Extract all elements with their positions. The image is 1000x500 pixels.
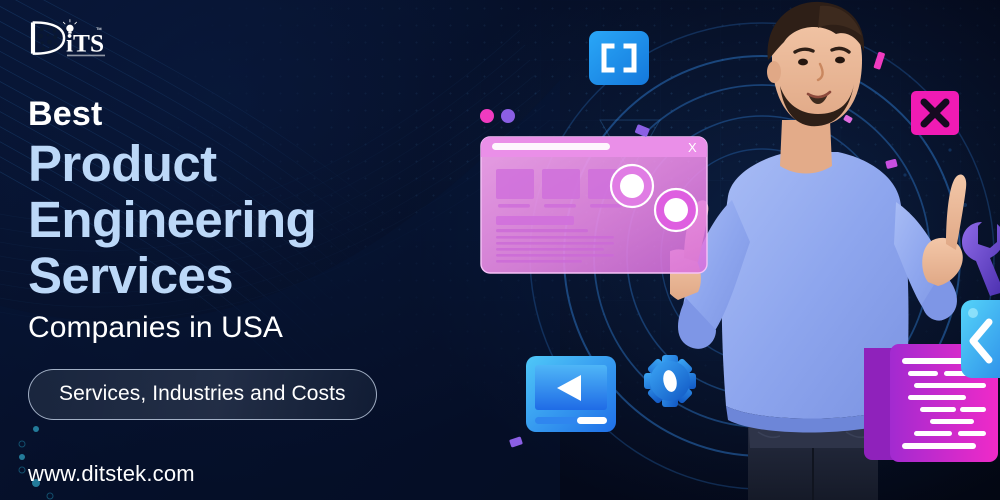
confetti-marks	[440, 0, 1000, 500]
headline-line-3: Engineering	[28, 192, 498, 248]
headline-line-4: Services	[28, 248, 498, 304]
logo-d-glyph	[31, 22, 64, 53]
logo-trademark: ™	[96, 27, 102, 34]
hero-banner: iTS ™ Best Product Engineering Services …	[0, 0, 1000, 500]
website-url[interactable]: www.ditstek.com	[28, 461, 195, 487]
headline-line-1: Best	[28, 96, 498, 132]
dits-logo[interactable]: iTS ™	[28, 17, 106, 63]
hero-copy: Best Product Engineering Services Compan…	[28, 96, 498, 420]
headline-line-2: Product	[28, 136, 498, 192]
headline-line-5: Companies in USA	[28, 310, 498, 346]
subtitle-badge: Services, Industries and Costs	[28, 369, 377, 420]
logo-tagline-bar	[67, 55, 105, 57]
hero-artwork: X	[440, 0, 1000, 500]
